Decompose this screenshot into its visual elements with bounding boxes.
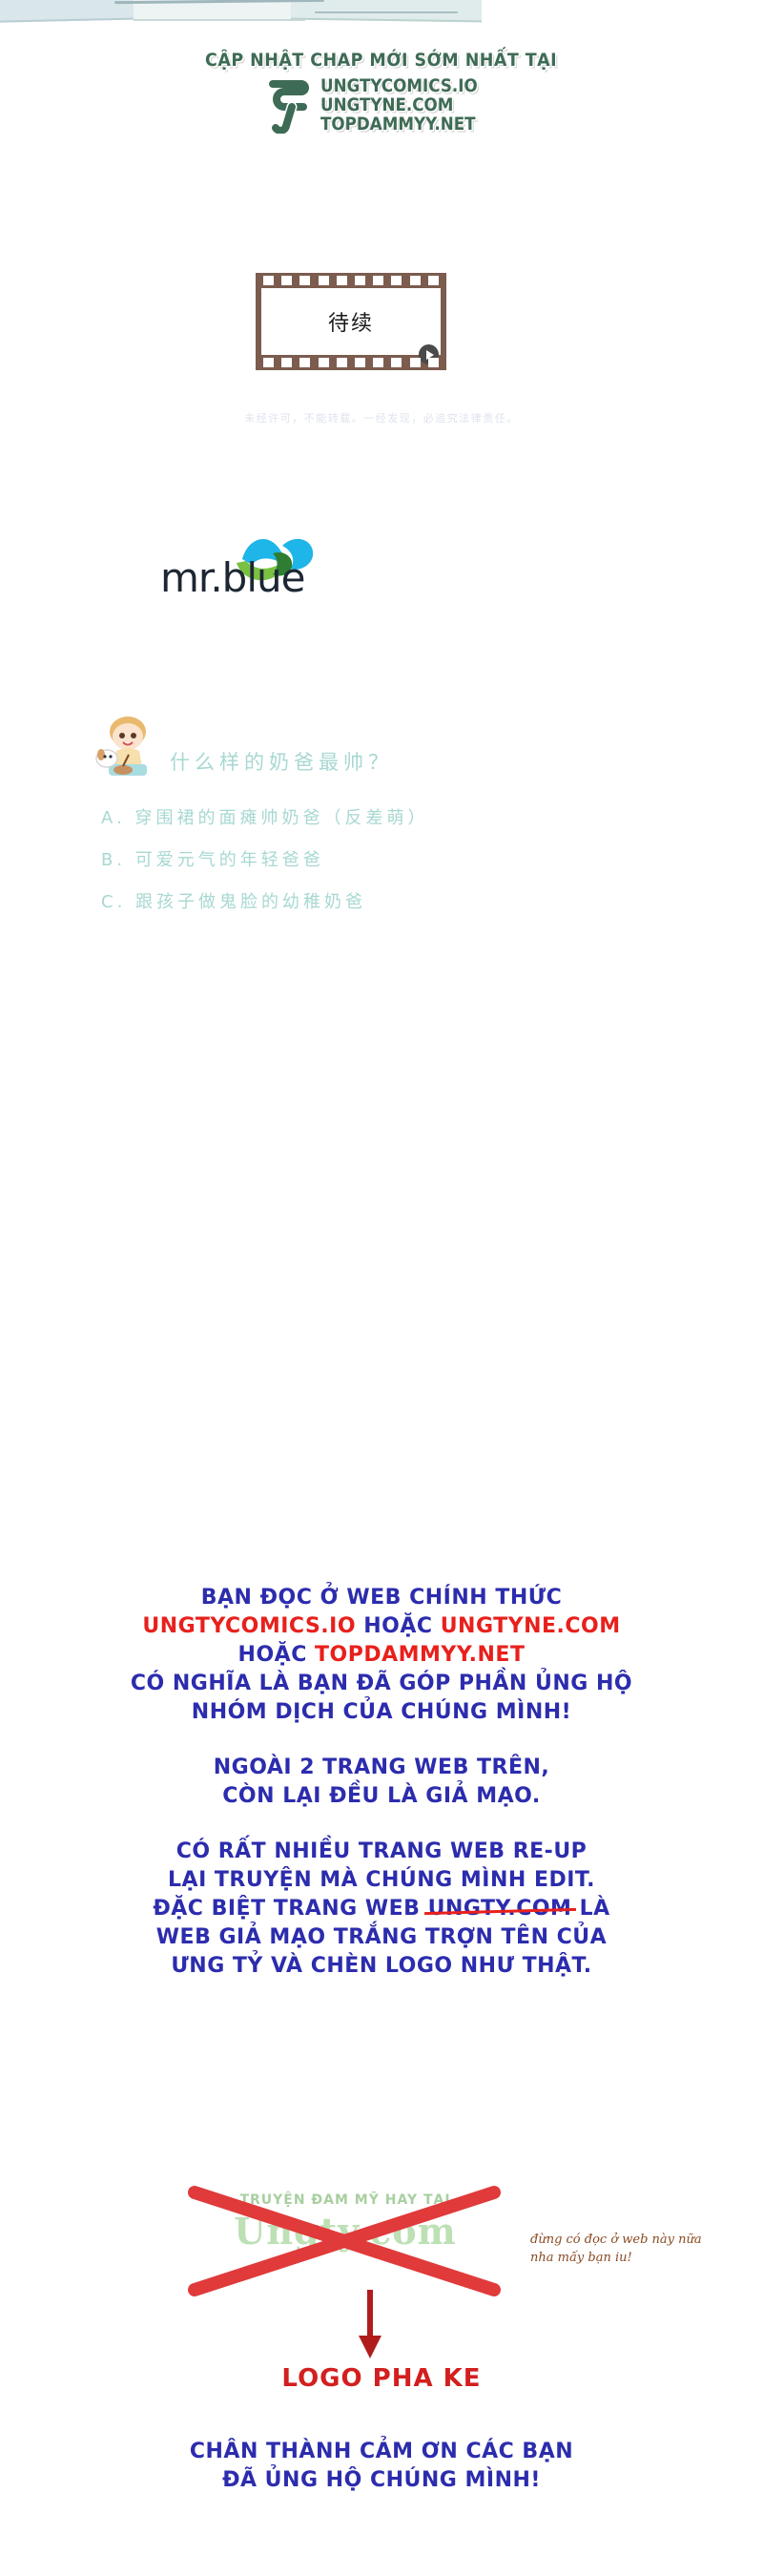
film-perf <box>263 358 274 367</box>
arrow-down-icon <box>351 2288 389 2362</box>
thanks-line-2: ĐÃ ỦNG HỘ CHÚNG MÌNH! <box>0 2466 763 2495</box>
watermark-url-2: UNGTYNE.COM <box>320 95 453 114</box>
film-perf <box>391 276 402 285</box>
notice-line-12: ƯNG TỶ VÀ CHÈN LOGO NHƯ THẬT. <box>0 1952 763 1981</box>
notice-line-11: WEB GIẢ MẠO TRẮNG TRỢN TÊN CỦA <box>0 1923 763 1952</box>
notice-line-7: CÒN LẠI ĐỀU LÀ GIẢ MẠO. <box>0 1782 763 1811</box>
watermark-url-3: TOPDAMMYY.NET <box>320 114 476 134</box>
film-perf <box>319 276 329 285</box>
film-perf <box>373 358 383 367</box>
handwritten-note: đừng có đọc ở web này nữa nha mấy bạn iu… <box>530 2231 702 2267</box>
translator-notice: BẠN ĐỌC Ở WEB CHÍNH THỨC UNGTYCOMICS.IO … <box>0 1584 763 1981</box>
notice-line-5: NHÓM DỊCH CỦA CHÚNG MÌNH! <box>0 1698 763 1727</box>
notice-line-10-prefix: ĐẶC BIỆT TRANG WEB <box>153 1897 420 1921</box>
film-perf <box>428 358 439 367</box>
film-perf <box>263 276 274 285</box>
quiz-option-b[interactable]: B. 可爱元气的年轻爸爸 <box>101 846 763 871</box>
notice-line-8: CÓ RẤT NHIỀU TRANG WEB RE-UP <box>0 1838 763 1866</box>
film-perf <box>410 276 421 285</box>
quiz-question: 什么样的奶爸最帅？ <box>170 747 393 776</box>
film-perf <box>281 358 292 367</box>
watermark-url-1: UNGTYCOMICS.IO <box>320 76 478 95</box>
notice-url-ungtycomics[interactable]: UNGTYCOMICS.IO <box>142 1614 356 1638</box>
watermark-body: UNGTYCOMICS.IO UNGTYNE.COM TOPDAMMYY.NET <box>263 76 499 134</box>
notice-line-10: ĐẶC BIỆT TRANG WEB UNGTY.COM LÀ <box>0 1895 763 1923</box>
film-perf <box>299 276 310 285</box>
notice-line-2: UNGTYCOMICS.IO HOẶC UNGTYNE.COM <box>0 1612 763 1641</box>
film-strip-panel: 待续 <box>256 273 446 370</box>
notice-gap-2 <box>0 1811 763 1838</box>
film-perf <box>428 276 439 285</box>
notice-url-ungtyne[interactable]: UNGTYNE.COM <box>441 1614 621 1638</box>
film-caption: 待续 <box>328 306 374 337</box>
film-perforations-top <box>256 273 446 288</box>
notice-fake-url: UNGTY.COM <box>428 1895 572 1923</box>
watermark-url-list: UNGTYCOMICS.IO UNGTYNE.COM TOPDAMMYY.NET <box>320 76 499 134</box>
film-perf <box>355 358 365 367</box>
thanks-line-1: CHÂN THÀNH CẢM ƠN CÁC BẠN <box>0 2438 763 2466</box>
quiz-options: A. 穿围裙的面瘫帅奶爸（反差萌） B. 可爱元气的年轻爸爸 C. 跟孩子做鬼脸… <box>0 804 763 913</box>
fake-logo-label: LOGO PHA KE <box>0 2364 763 2393</box>
notice-gap-1 <box>0 1727 763 1754</box>
film-perf <box>373 276 383 285</box>
notice-line-6: NGOÀI 2 TRANG WEB TRÊN, <box>0 1754 763 1782</box>
baby-illustration-icon <box>92 711 160 779</box>
quiz-option-c[interactable]: C. 跟孩子做鬼脸的幼稚奶爸 <box>101 888 763 913</box>
quiz-block: 什么样的奶爸最帅？ A. 穿围裙的面瘫帅奶爸（反差萌） B. 可爱元气的年轻爸爸… <box>0 711 763 930</box>
quiz-header-row: 什么样的奶爸最帅？ <box>0 711 763 779</box>
film-perf <box>391 358 402 367</box>
notice-line-1: BẠN ĐỌC Ở WEB CHÍNH THỨC <box>0 1584 763 1612</box>
film-perforations-bottom <box>256 355 446 370</box>
notice-line-4: CÓ NGHĨA LÀ BẠN ĐÃ GÓP PHẦN ỦNG HỘ <box>0 1670 763 1698</box>
mrblue-wordmark: mr.blue <box>160 554 304 601</box>
watermark-header: CẬP NHẬT CHAP MỚI SỚM NHẤT TẠI UNGTYCOMI… <box>0 50 763 134</box>
panel-remnant <box>0 0 763 38</box>
fake-logo-section: TRUYỆN ĐAM MỸ HAY TẠI Ungty.com đừng có … <box>0 2185 763 2376</box>
thanks-block: CHÂN THÀNH CẢM ƠN CÁC BẠN ĐÃ ỦNG HỘ CHÚN… <box>0 2438 763 2495</box>
ungty-mark-icon <box>263 76 317 134</box>
watermark-title: CẬP NHẬT CHAP MỚI SỚM NHẤT TẠI <box>205 50 557 71</box>
film-perf <box>410 358 421 367</box>
notice-line-9: LẠI TRUYỆN MÀ CHÚNG MÌNH EDIT. <box>0 1866 763 1895</box>
notice-conj-2: HOẶC <box>238 1643 307 1667</box>
red-cross-icon <box>177 2185 511 2299</box>
film-perf <box>337 276 347 285</box>
film-perf <box>281 276 292 285</box>
notice-line-3: HOẶC TOPDAMMYY.NET <box>0 1641 763 1670</box>
comic-page: CẬP NHẬT CHAP MỚI SỚM NHẤT TẠI UNGTYCOMI… <box>0 0 763 2576</box>
notice-url-topdammyy[interactable]: TOPDAMMYY.NET <box>315 1643 525 1667</box>
panel-stroke-b <box>315 11 458 13</box>
quiz-option-a[interactable]: A. 穿围裙的面瘫帅奶爸（反差萌） <box>101 804 763 829</box>
mrblue-logo: mr.blue <box>160 525 322 601</box>
film-perf <box>337 358 347 367</box>
film-perf <box>299 358 310 367</box>
notice-conj-1: HOẶC <box>363 1614 432 1638</box>
copyright-notice: 未经许可，不能转载。一经发现，必追究法律责任。 <box>0 410 763 426</box>
notice-line-10-suffix: LÀ <box>580 1897 610 1921</box>
film-strip: 待续 <box>256 273 446 370</box>
film-screen: 待续 <box>261 288 441 355</box>
film-perf <box>319 358 329 367</box>
film-perf <box>355 276 365 285</box>
